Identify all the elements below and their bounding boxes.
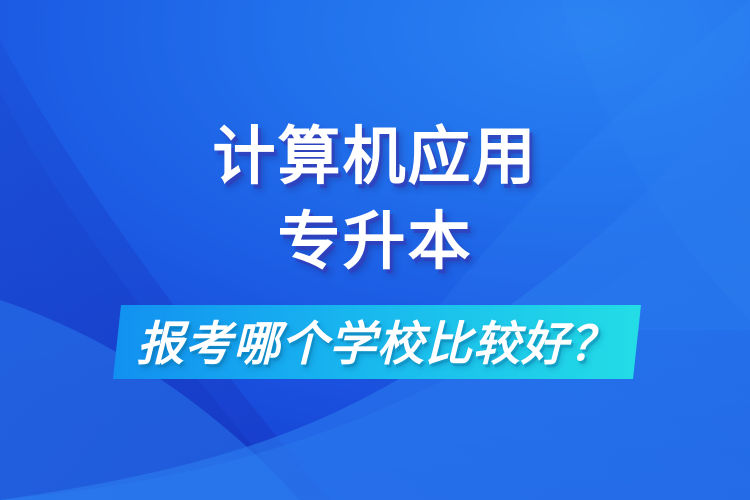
headline-line-1: 计算机应用 <box>0 126 750 189</box>
headline-line-2: 专升本 <box>0 211 750 274</box>
banner-label: 报考哪个学校比较好？ <box>137 320 617 367</box>
subtitle-banner: 报考哪个学校比较好？ <box>0 300 750 386</box>
headline-group: 计算机应用 专升本 <box>0 126 750 274</box>
poster-canvas: 计算机应用 专升本 报考哪个学校比较好？ <box>0 0 750 500</box>
banner-text-wrap: 报考哪个学校比较好？ <box>0 300 750 386</box>
